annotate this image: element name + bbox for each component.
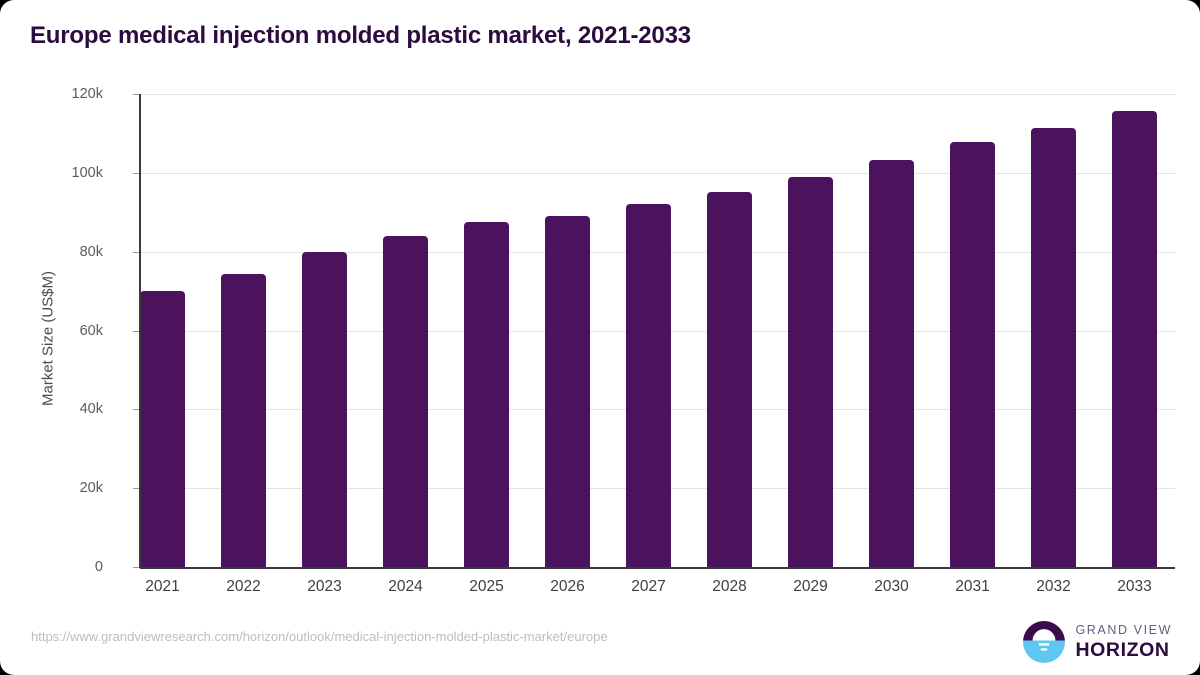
x-tick-label-2021: 2021 bbox=[123, 578, 203, 596]
bar-2033[interactable] bbox=[1112, 111, 1157, 567]
gridline bbox=[140, 173, 1175, 174]
bar-2022[interactable] bbox=[221, 274, 266, 567]
x-tick-label-2029: 2029 bbox=[771, 578, 851, 596]
x-tick-label-2026: 2026 bbox=[528, 578, 608, 596]
x-tick-label-2033: 2033 bbox=[1095, 578, 1175, 596]
bar-2030[interactable] bbox=[869, 160, 914, 567]
x-tick-label-2032: 2032 bbox=[1014, 578, 1094, 596]
page-title: Europe medical injection molded plastic … bbox=[30, 22, 691, 50]
horizon-logo-icon bbox=[1022, 620, 1066, 664]
bar-2028[interactable] bbox=[707, 192, 752, 567]
bar-2024[interactable] bbox=[383, 236, 428, 567]
bar-2031[interactable] bbox=[950, 142, 995, 567]
y-tick-label: 120k bbox=[23, 86, 103, 102]
logo-wordmark: GRAND VIEW HORIZON bbox=[1075, 624, 1172, 660]
bar-2025[interactable] bbox=[464, 222, 509, 567]
x-tick-label-2024: 2024 bbox=[366, 578, 446, 596]
chart-card: Europe medical injection molded plastic … bbox=[0, 0, 1200, 675]
y-tick-label: 80k bbox=[23, 244, 103, 260]
bar-2021[interactable] bbox=[140, 291, 185, 567]
gridline bbox=[140, 94, 1175, 95]
bar-2026[interactable] bbox=[545, 216, 590, 567]
brand-logo: GRAND VIEW HORIZON bbox=[1022, 620, 1172, 664]
x-tick-label-2022: 2022 bbox=[204, 578, 284, 596]
y-tick-label: 40k bbox=[23, 401, 103, 417]
y-tick-label: 100k bbox=[23, 165, 103, 181]
bar-2023[interactable] bbox=[302, 252, 347, 567]
logo-line-grand-view: GRAND VIEW bbox=[1075, 624, 1172, 637]
plot-area: 020k40k60k80k100k120k bbox=[140, 94, 1175, 567]
x-tick-label-2031: 2031 bbox=[933, 578, 1013, 596]
x-tick-label-2025: 2025 bbox=[447, 578, 527, 596]
bar-2029[interactable] bbox=[788, 177, 833, 567]
logo-line-horizon: HORIZON bbox=[1075, 641, 1172, 661]
x-tick-label-2028: 2028 bbox=[690, 578, 770, 596]
x-tick-label-2030: 2030 bbox=[852, 578, 932, 596]
y-axis-line bbox=[139, 94, 141, 568]
x-axis-line bbox=[140, 567, 1175, 569]
y-tick-label: 60k bbox=[23, 323, 103, 339]
x-tick-label-2023: 2023 bbox=[285, 578, 365, 596]
bar-2027[interactable] bbox=[626, 204, 671, 567]
x-tick-label-2027: 2027 bbox=[609, 578, 689, 596]
source-url[interactable]: https://www.grandviewresearch.com/horizo… bbox=[31, 629, 608, 644]
bar-2032[interactable] bbox=[1031, 128, 1076, 567]
y-tick-label: 0 bbox=[23, 559, 103, 575]
y-tick-label: 20k bbox=[23, 480, 103, 496]
